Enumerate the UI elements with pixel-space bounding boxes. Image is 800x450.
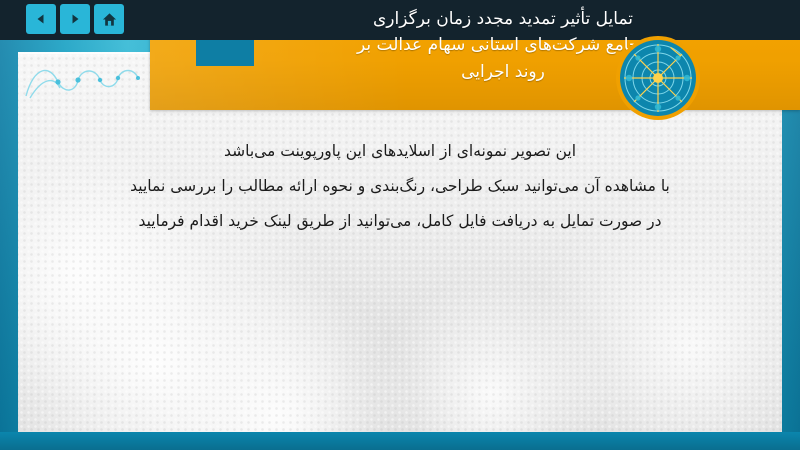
corner-ornament-left-icon <box>24 56 144 102</box>
presentation-slide: تمایل تأثیر تمدید مجدد زمان برگزاری مجام… <box>0 0 800 450</box>
previous-slide-button[interactable] <box>26 4 56 34</box>
home-icon <box>102 12 117 27</box>
triangle-left-icon <box>35 13 47 25</box>
ornament-medallion-icon <box>615 35 701 121</box>
body-line-2: با مشاهده آن می‌توانید سبک طراحی، رنگ‌بن… <box>50 169 750 204</box>
body-line-3: در صورت تمایل به دریافت فایل کامل، می‌تو… <box>50 204 750 239</box>
body-line-1: این تصویر نمونه‌ای از اسلایدهای این پاور… <box>50 134 750 169</box>
bottom-frame-strip <box>0 432 800 450</box>
slide-title-line-1: تمایل تأثیر تمدید مجدد زمان برگزاری <box>228 6 778 32</box>
home-button[interactable] <box>94 4 124 34</box>
left-frame-accent <box>0 40 18 432</box>
triangle-right-icon <box>69 13 81 25</box>
slide-navigation-buttons <box>26 4 124 34</box>
slide-body-text: این تصویر نمونه‌ای از اسلایدهای این پاور… <box>50 134 750 239</box>
next-slide-button[interactable] <box>60 4 90 34</box>
